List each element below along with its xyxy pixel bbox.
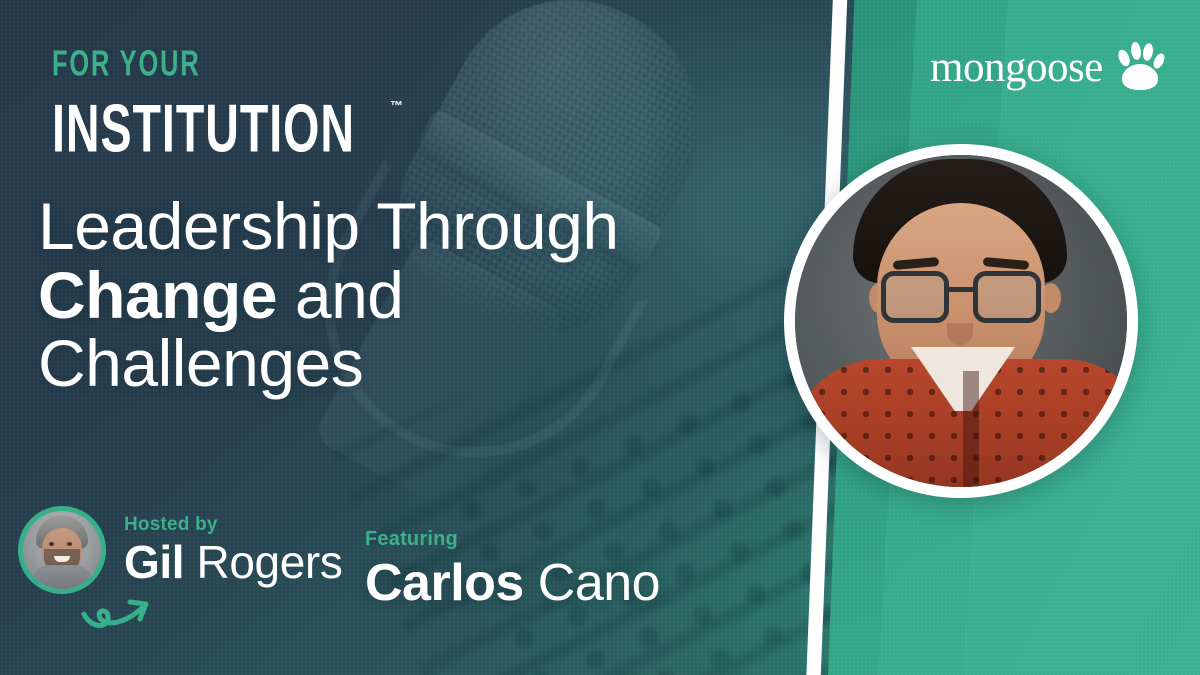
portrait-glasses-bridge: [947, 287, 975, 292]
mongoose-logo: mongoose: [930, 42, 1166, 92]
title-line-2-emphasis: Change: [38, 258, 277, 332]
title-line-3: Challenges: [38, 326, 363, 400]
host-text: Hosted by Gil Rogers: [124, 515, 342, 585]
curved-arrow-icon: [78, 576, 174, 632]
portrait-lens-right: [973, 271, 1041, 323]
episode-title: Leadership Through Change and Challenges: [38, 192, 778, 398]
paw-print-icon: [1114, 42, 1166, 92]
guest-first-name: Carlos: [365, 554, 524, 612]
show-logo-line-2-wrap: INSTITUTION ™: [52, 96, 364, 144]
podcast-cover-graphic: FOR YOUR INSTITUTION ™ Leadership Throug…: [0, 0, 1200, 675]
guest-last-name: Cano: [524, 554, 660, 612]
host-avatar-eye-right: [67, 542, 72, 546]
show-logo: FOR YOUR INSTITUTION ™: [52, 46, 364, 144]
trademark-symbol: ™: [390, 98, 403, 113]
portrait-shirt-placket: [963, 371, 979, 498]
title-line-1: Leadership Through: [38, 189, 619, 263]
featuring-label: Featuring: [365, 529, 660, 549]
title-line-2-rest: and: [277, 258, 403, 332]
host-last-name: Rogers: [184, 536, 342, 588]
hosted-by-label: Hosted by: [124, 515, 342, 534]
show-logo-line-1: FOR YOUR: [52, 46, 346, 82]
guest-portrait: [784, 144, 1138, 498]
host-block: Hosted by Gil Rogers: [18, 506, 342, 594]
portrait-lens-left: [881, 271, 949, 323]
host-avatar-eye-left: [49, 542, 54, 546]
guest-name: Carlos Cano: [365, 557, 660, 609]
guest-block: Featuring Carlos Cano: [365, 529, 660, 609]
mongoose-wordmark: mongoose: [930, 46, 1103, 89]
portrait-glasses: [881, 271, 1041, 325]
show-logo-line-2: INSTITUTION: [52, 96, 355, 164]
